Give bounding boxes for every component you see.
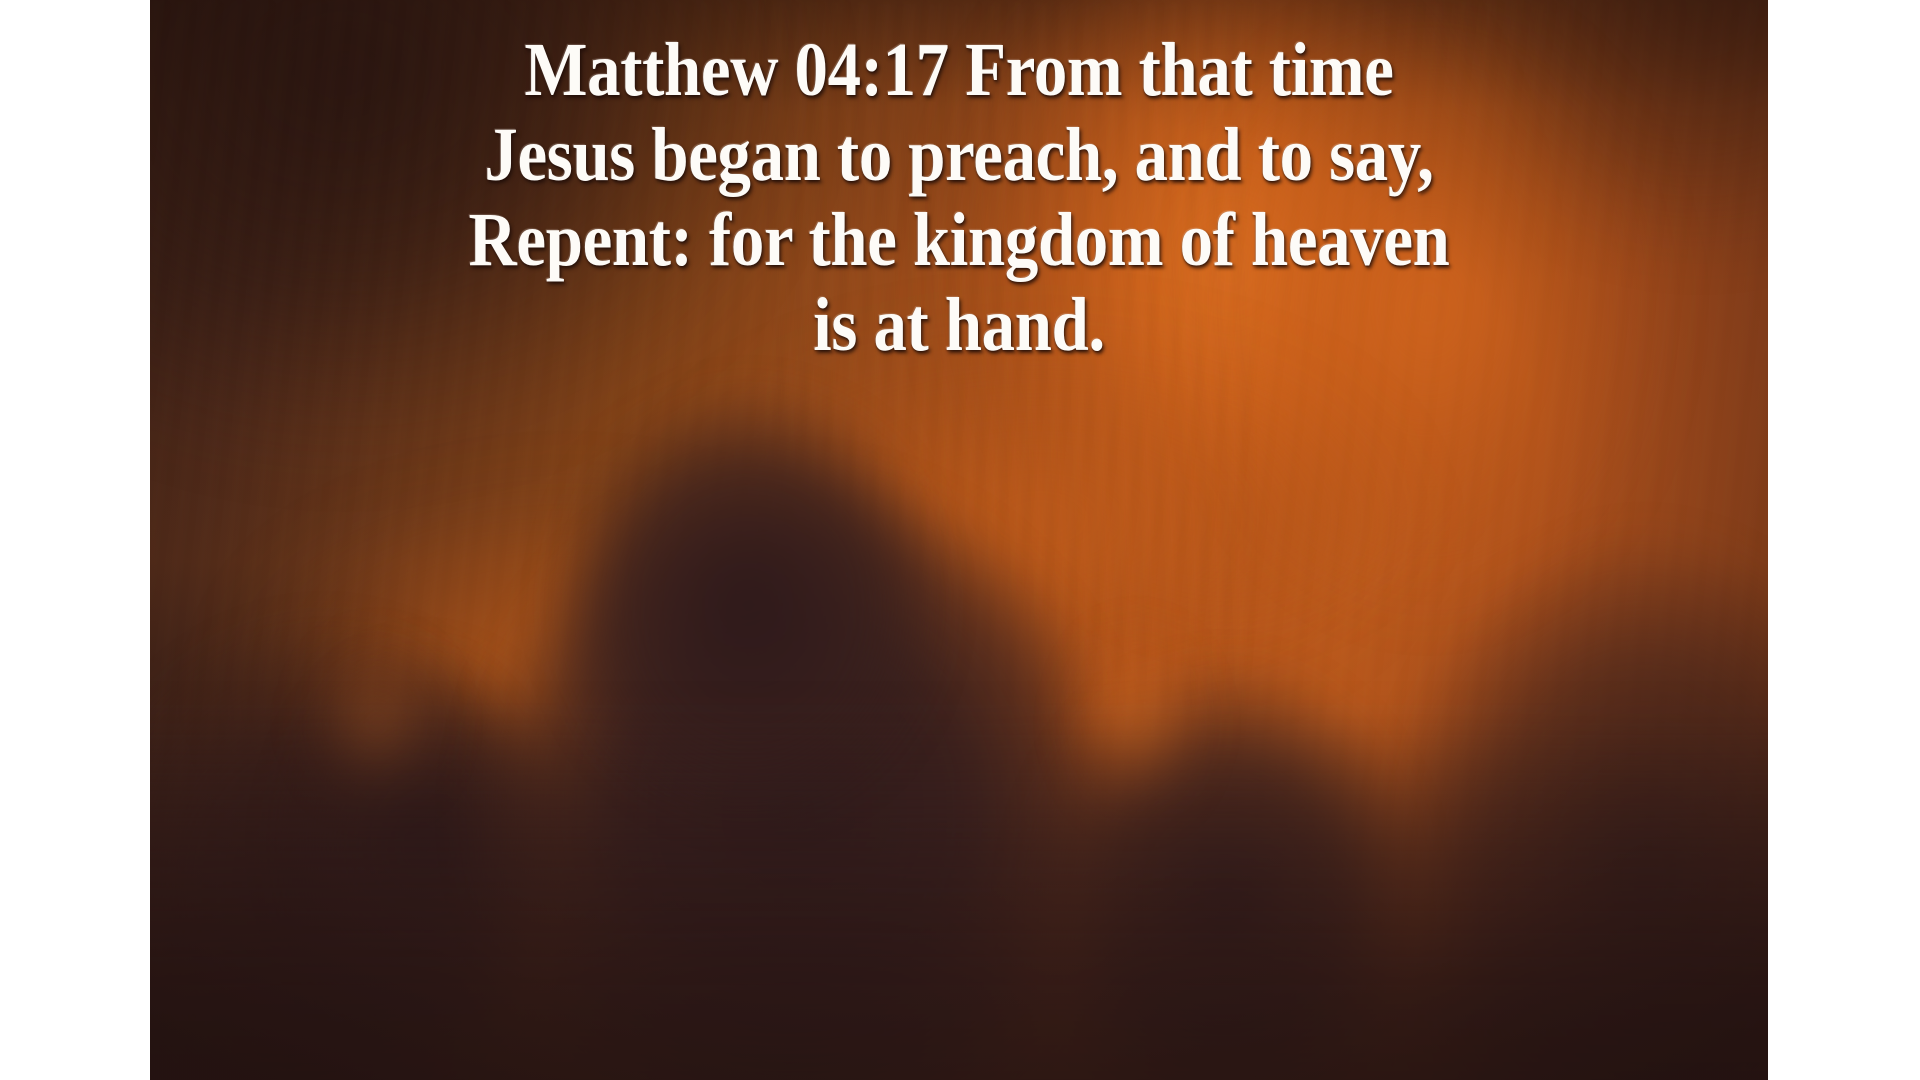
right-white-margin	[1768, 0, 1920, 1080]
left-white-margin	[0, 0, 150, 1080]
slide-canvas: Matthew 04:17 From that time Jesus began…	[0, 0, 1920, 1080]
background-photo: Matthew 04:17 From that time Jesus began…	[150, 0, 1768, 1080]
photo-vignette	[150, 0, 1768, 1080]
